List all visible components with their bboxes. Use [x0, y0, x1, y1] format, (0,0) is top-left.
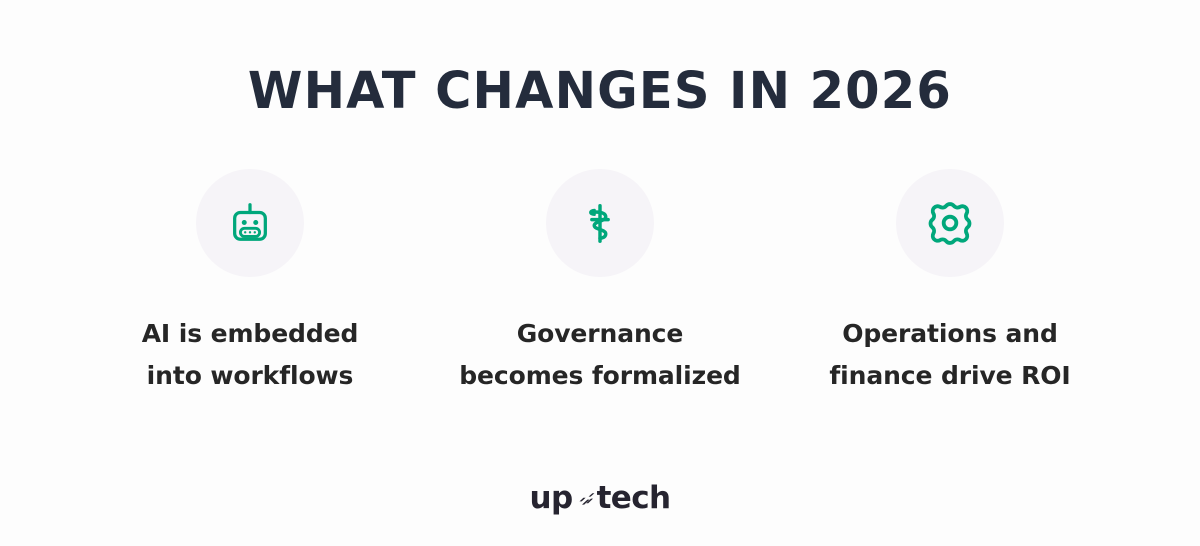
logo-text-tech: tech	[597, 483, 671, 514]
icon-badge-robot	[196, 169, 304, 277]
feature-caption: Operations and finance drive ROI	[829, 313, 1070, 397]
gear-icon	[927, 200, 973, 246]
robot-icon	[227, 200, 273, 246]
rod-of-asclepius-icon	[578, 200, 622, 246]
icon-badge-governance	[546, 169, 654, 277]
feature-caption: AI is embedded into workflows	[142, 313, 359, 397]
feature-item-governance: Governance becomes formalized	[425, 169, 775, 397]
feature-caption: Governance becomes formalized	[459, 313, 740, 397]
motion-dashes-mark-icon	[574, 489, 596, 511]
feature-item-ai-embedded: AI is embedded into workflows	[75, 169, 425, 397]
feature-caption-line-2: becomes formalized	[459, 355, 740, 397]
icon-badge-gear	[896, 169, 1004, 277]
page-title: WHAT CHANGES IN 2026	[248, 66, 952, 117]
feature-grid: AI is embedded into workflows	[0, 169, 1200, 397]
feature-caption-line-2: into workflows	[142, 355, 359, 397]
brand-logo: up tech	[0, 483, 1200, 514]
slide-root: WHAT CHANGES IN 2026	[0, 0, 1200, 546]
feature-caption-line-1: AI is embedded	[142, 313, 359, 355]
feature-item-operations: Operations and finance drive ROI	[775, 169, 1125, 397]
feature-caption-line-1: Governance	[459, 313, 740, 355]
feature-caption-line-2: finance drive ROI	[829, 355, 1070, 397]
feature-caption-line-1: Operations and	[829, 313, 1070, 355]
logo-text-up: up	[530, 483, 573, 514]
